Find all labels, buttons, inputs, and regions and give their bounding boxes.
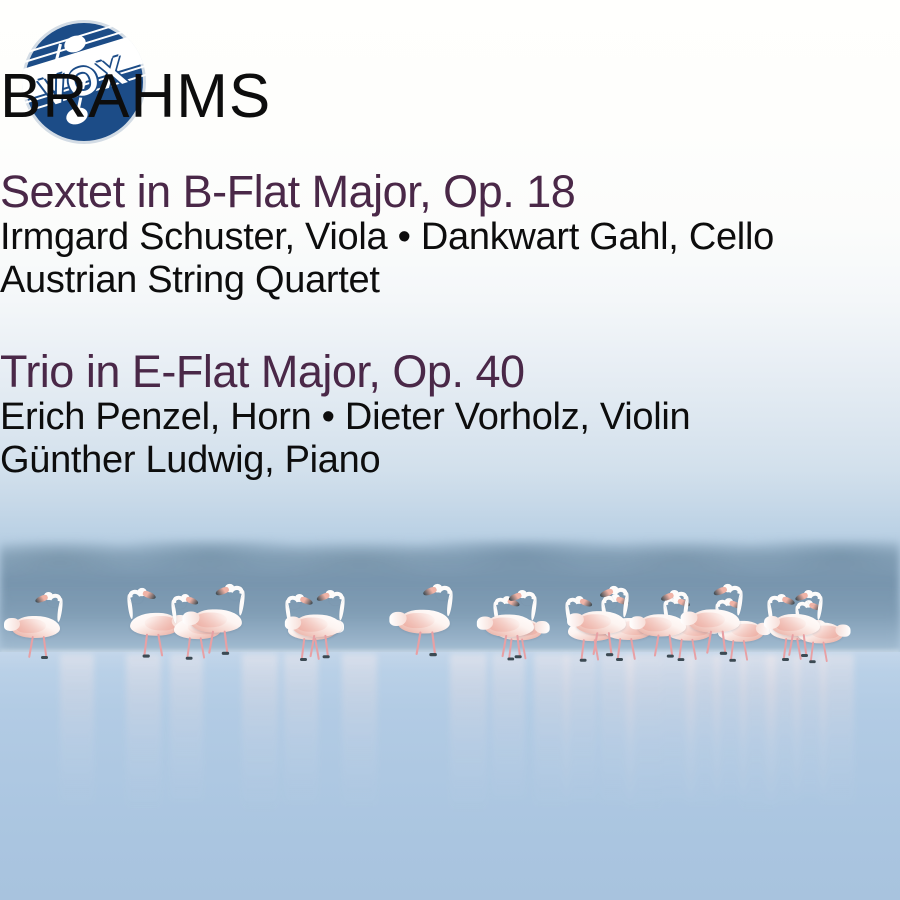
- work-title: Sextet in B-Flat Major, Op. 18: [0, 168, 900, 216]
- flamingo-leg: [822, 641, 827, 662]
- flamingo: [177, 586, 244, 676]
- flamingo-leg: [788, 634, 794, 656]
- flamingo-tail: [835, 625, 850, 637]
- flamingo: [282, 592, 344, 675]
- album-cover: VOX BRAHMS Sextet in B-Flat Major, Op. 1…: [0, 0, 900, 900]
- work-entry: Sextet in B-Flat Major, Op. 18 Irmgard S…: [0, 168, 900, 302]
- flamingo: [382, 586, 452, 679]
- flamingo-foot: [41, 656, 48, 659]
- flamingo-leg: [157, 634, 163, 657]
- flamingo-leg: [722, 630, 727, 653]
- flamingo-foot: [667, 655, 674, 658]
- flamingo-leg: [706, 631, 712, 654]
- flamingo-leg: [143, 634, 148, 657]
- flamingo-leg: [743, 640, 749, 661]
- flamingo-foot: [429, 653, 437, 656]
- flamingo-leg: [654, 634, 660, 656]
- flamingo: [675, 586, 742, 676]
- work-title: Trio in E-Flat Major, Op. 40: [0, 348, 900, 396]
- flamingo-leg: [224, 630, 229, 653]
- flamingo-leg: [501, 635, 507, 657]
- flamingo-leg: [208, 631, 214, 654]
- flamingo-leg: [608, 632, 613, 655]
- flamingo-foot: [323, 655, 330, 658]
- flamingo-leg: [803, 634, 808, 656]
- flamingo-foot: [143, 654, 150, 657]
- flamingo-leg: [43, 636, 48, 658]
- flamingo-leg: [324, 635, 329, 658]
- flamingo-leg: [28, 636, 34, 658]
- flamingo-leg: [415, 631, 421, 655]
- composer-name: BRAHMS: [0, 66, 900, 128]
- flamingo-leg: [668, 634, 673, 656]
- flamingo-foot: [606, 653, 613, 656]
- flamingo: [762, 592, 822, 672]
- flamingo-foot: [222, 652, 229, 655]
- work-performers-line: Günther Ludwig, Piano: [0, 439, 900, 482]
- work-performers-line: Erich Penzel, Horn • Dieter Vorholz, Vio…: [0, 396, 900, 439]
- work-performers-line: Austrian String Quartet: [0, 259, 900, 302]
- flamingo: [562, 588, 628, 676]
- flamingo-foot: [515, 655, 522, 658]
- flamingo-leg: [431, 631, 436, 655]
- work-entry: Trio in E-Flat Major, Op. 40 Erich Penze…: [0, 348, 900, 482]
- flamingo-tail: [534, 621, 549, 633]
- flamingo-leg: [309, 635, 315, 657]
- flamingo: [2, 594, 62, 674]
- flamingo-bill: [142, 590, 157, 601]
- flamingo-leg: [516, 635, 521, 658]
- flamingo: [474, 592, 536, 675]
- flamingo-foot: [801, 654, 808, 657]
- work-performers-line: Irmgard Schuster, Viola • Dankwart Gahl,…: [0, 216, 900, 259]
- flamingo-leg: [592, 632, 598, 655]
- flamingo-foot: [720, 652, 727, 655]
